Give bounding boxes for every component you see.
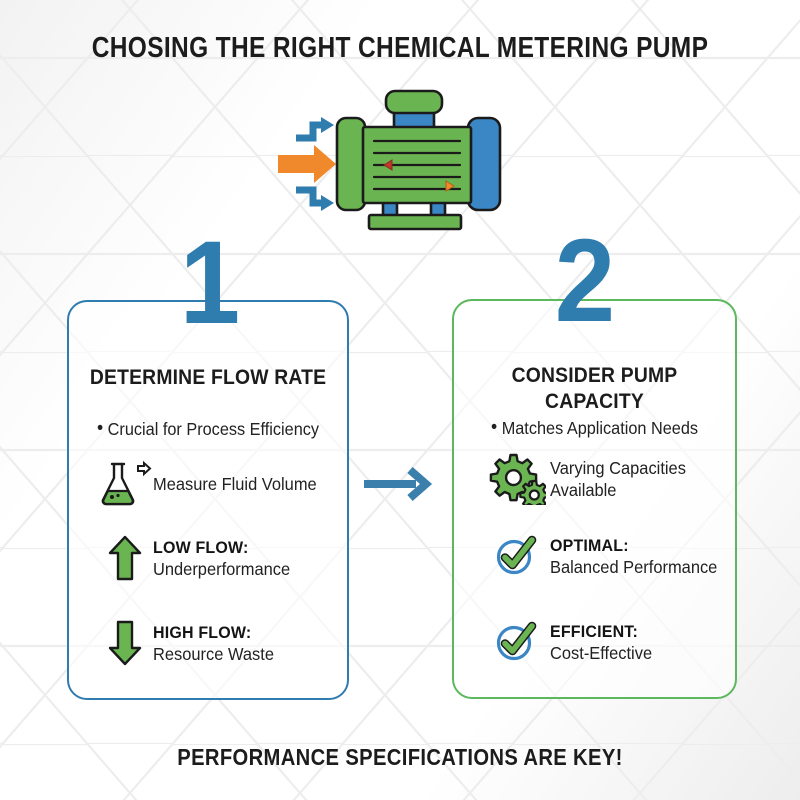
- feature-label-high-flow: HIGH FLOW:: [153, 622, 274, 643]
- flask-icon: [97, 460, 153, 508]
- flask-icon-wrap: [97, 460, 153, 508]
- chemical-metering-pump-icon: [272, 83, 528, 233]
- step-number-1: 1: [159, 224, 260, 342]
- check-circle-icon-wrap: [484, 533, 550, 577]
- bullet-dot-icon: •: [97, 418, 103, 439]
- page-title: CHOSING THE RIGHT CHEMICAL METERING PUMP: [56, 31, 744, 65]
- feature-label-measure-fluid-volume: Measure Fluid Volume: [153, 473, 317, 495]
- feature-sub-low-flow: Underperformance: [153, 558, 290, 580]
- feature-row-measure-fluid-volume: Measure Fluid Volume: [97, 460, 327, 508]
- arrow-down-icon: [108, 620, 142, 666]
- infographic-canvas: CHOSING THE RIGHT CHEMICAL METERING PUMP: [0, 0, 800, 800]
- feature-sub-efficient: Cost-Effective: [550, 642, 652, 664]
- arrow-down-icon-wrap: [97, 620, 153, 666]
- feature-text-efficient: EFFICIENT: Cost-Effective: [550, 619, 652, 664]
- feature-label-varying-capacities-line2: Available: [550, 479, 686, 501]
- feature-label-optimal: OPTIMAL:: [550, 535, 717, 556]
- check-circle-icon-wrap: [484, 619, 550, 663]
- feature-label-varying-capacities-line1: Varying Capacities: [550, 457, 686, 479]
- feature-row-efficient: EFFICIENT: Cost-Effective: [484, 619, 659, 664]
- step-number-2: 2: [534, 222, 635, 340]
- check-circle-icon: [494, 533, 540, 577]
- card-consider-pump-capacity[interactable]: CONSIDER PUMP CAPACITY • Matches Applica…: [452, 299, 737, 699]
- feature-row-low-flow: LOW FLOW: Underperformance: [97, 535, 299, 581]
- right-arrow-icon: [362, 466, 434, 502]
- check-circle-icon: [494, 619, 540, 663]
- feature-label-efficient: EFFICIENT:: [550, 621, 652, 642]
- feature-label-low-flow: LOW FLOW:: [153, 537, 290, 558]
- page-footer: PERFORMANCE SPECIFICATIONS ARE KEY!: [56, 742, 744, 772]
- card-heading-pump-capacity: CONSIDER PUMP CAPACITY: [468, 362, 721, 414]
- feature-sub-high-flow: Resource Waste: [153, 643, 274, 665]
- card-bullet-text-flow-rate: Crucial for Process Efficiency: [108, 419, 319, 439]
- feature-text-low-flow: LOW FLOW: Underperformance: [153, 535, 290, 580]
- card-bullet-pump-capacity: • Matches Application Needs: [464, 417, 725, 439]
- gears-icon-wrap: [484, 453, 550, 505]
- card-bullet-text-pump-capacity: Matches Application Needs: [502, 418, 698, 438]
- feature-text-varying-capacities: Varying Capacities Available: [550, 453, 686, 501]
- feature-text-optimal: OPTIMAL: Balanced Performance: [550, 533, 717, 578]
- arrow-up-icon: [108, 535, 142, 581]
- gears-icon: [488, 453, 546, 505]
- feature-row-optimal: OPTIMAL: Balanced Performance: [484, 533, 728, 578]
- feature-text-high-flow: HIGH FLOW: Resource Waste: [153, 620, 274, 665]
- bullet-dot-icon: •: [491, 417, 497, 438]
- feature-text-measure-fluid-volume: Measure Fluid Volume: [153, 460, 317, 495]
- feature-row-varying-capacities: Varying Capacities Available: [484, 453, 695, 505]
- arrow-up-icon-wrap: [97, 535, 153, 581]
- card-determine-flow-rate[interactable]: DETERMINE FLOW RATE • Crucial for Proces…: [67, 300, 349, 700]
- card-bullet-flow-rate: • Crucial for Process Efficiency: [79, 418, 338, 440]
- feature-row-high-flow: HIGH FLOW: Resource Waste: [97, 620, 282, 666]
- feature-sub-optimal: Balanced Performance: [550, 556, 717, 578]
- card-heading-flow-rate: DETERMINE FLOW RATE: [83, 364, 333, 390]
